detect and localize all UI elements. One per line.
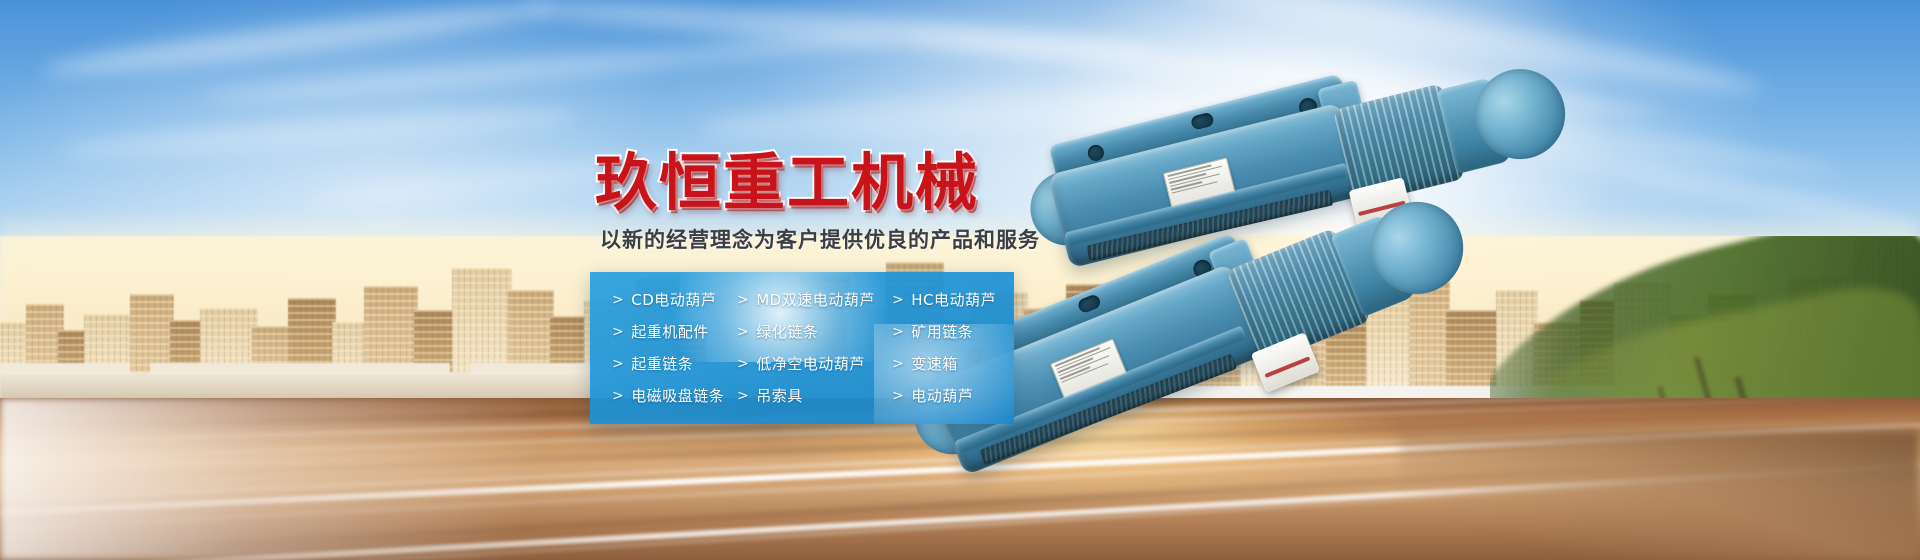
page-subtitle: 以新的经营理念为客户提供优良的产品和服务 xyxy=(600,224,1040,254)
cloud-streak xyxy=(60,102,581,164)
product-link-label: 矿用链条 xyxy=(911,325,973,340)
page-title: 玖恒重工机械 xyxy=(595,132,979,222)
product-link-label: CD电动葫芦 xyxy=(631,293,716,308)
electric-hoist-products xyxy=(1050,60,1810,520)
product-link-slings[interactable]: > 吊索具 xyxy=(737,380,892,412)
chevron-right-icon: > xyxy=(737,292,749,308)
product-link-label: 电动葫芦 xyxy=(911,389,973,404)
product-link-label: 吊索具 xyxy=(756,389,803,404)
product-link-mining-chain[interactable]: > 矿用链条 xyxy=(892,316,1014,348)
chevron-right-icon: > xyxy=(892,356,904,372)
chevron-right-icon: > xyxy=(737,388,749,404)
chevron-right-icon: > xyxy=(612,324,624,340)
product-links-panel: > CD电动葫芦 > MD双速电动葫芦 > HC电动葫芦 > 起重机配件 > 绿… xyxy=(590,272,1014,424)
product-link-cd-hoist[interactable]: > CD电动葫芦 xyxy=(612,284,737,316)
chevron-right-icon: > xyxy=(737,356,749,372)
product-link-electric-hoist[interactable]: > 电动葫芦 xyxy=(892,380,1014,412)
product-link-greening-chain[interactable]: > 绿化链条 xyxy=(737,316,892,348)
product-link-label: 绿化链条 xyxy=(756,325,818,340)
product-link-label: 变速箱 xyxy=(911,357,958,372)
chevron-right-icon: > xyxy=(892,324,904,340)
product-link-label: MD双速电动葫芦 xyxy=(756,293,875,308)
chevron-right-icon: > xyxy=(737,324,749,340)
product-link-label: 低净空电动葫芦 xyxy=(756,357,865,372)
product-link-low-headroom-hoist[interactable]: > 低净空电动葫芦 xyxy=(737,348,892,380)
product-link-hc-hoist[interactable]: > HC电动葫芦 xyxy=(892,284,1014,316)
chevron-right-icon: > xyxy=(612,388,624,404)
product-link-md-dual-speed-hoist[interactable]: > MD双速电动葫芦 xyxy=(737,284,892,316)
product-links-grid: > CD电动葫芦 > MD双速电动葫芦 > HC电动葫芦 > 起重机配件 > 绿… xyxy=(590,272,1014,424)
product-link-label: 电磁吸盘链条 xyxy=(631,389,724,404)
product-link-gearbox[interactable]: > 变速箱 xyxy=(892,348,1014,380)
product-link-label: 起重链条 xyxy=(631,357,693,372)
product-link-label: HC电动葫芦 xyxy=(911,293,996,308)
chevron-right-icon: > xyxy=(892,292,904,308)
hero-banner: 玖恒重工机械 以新的经营理念为客户提供优良的产品和服务 > CD电动葫芦 > M… xyxy=(0,0,1920,560)
chevron-right-icon: > xyxy=(892,388,904,404)
product-link-label: 起重机配件 xyxy=(631,325,709,340)
chevron-right-icon: > xyxy=(612,356,624,372)
chevron-right-icon: > xyxy=(612,292,624,308)
product-link-lifting-chain[interactable]: > 起重链条 xyxy=(612,348,737,380)
product-link-crane-parts[interactable]: > 起重机配件 xyxy=(612,316,737,348)
product-link-magnetic-chuck-chain[interactable]: > 电磁吸盘链条 xyxy=(612,380,737,412)
